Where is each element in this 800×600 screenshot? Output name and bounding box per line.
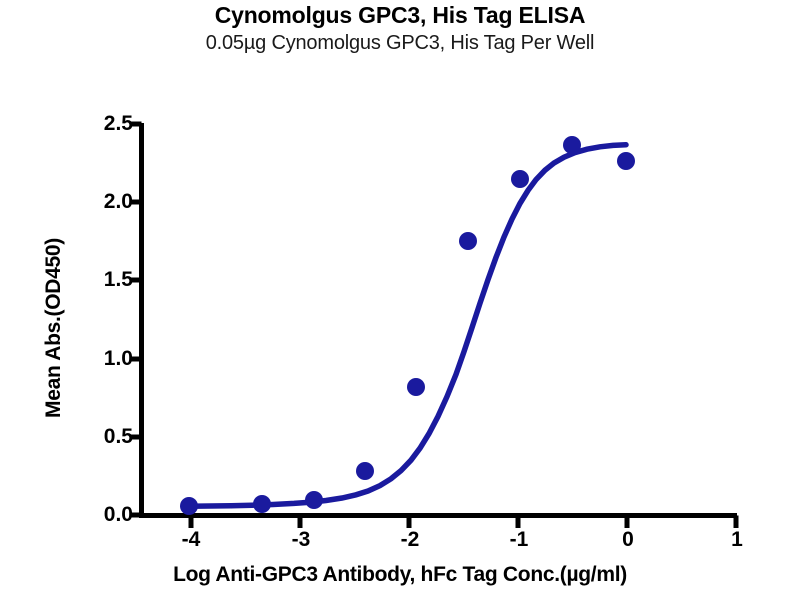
data-point bbox=[356, 462, 374, 480]
data-point bbox=[617, 152, 635, 170]
axes bbox=[139, 123, 737, 516]
data-point bbox=[253, 495, 271, 513]
data-points bbox=[180, 136, 635, 515]
data-point bbox=[459, 232, 477, 250]
elisa-chart-figure: Cynomolgus GPC3, His Tag ELISA 0.05µg Cy… bbox=[0, 0, 800, 600]
data-point bbox=[563, 136, 581, 154]
fit-curve bbox=[189, 145, 626, 506]
plot-area bbox=[0, 0, 800, 600]
data-point bbox=[407, 378, 425, 396]
data-point bbox=[305, 491, 323, 509]
data-point bbox=[180, 497, 198, 515]
data-point bbox=[511, 170, 529, 188]
